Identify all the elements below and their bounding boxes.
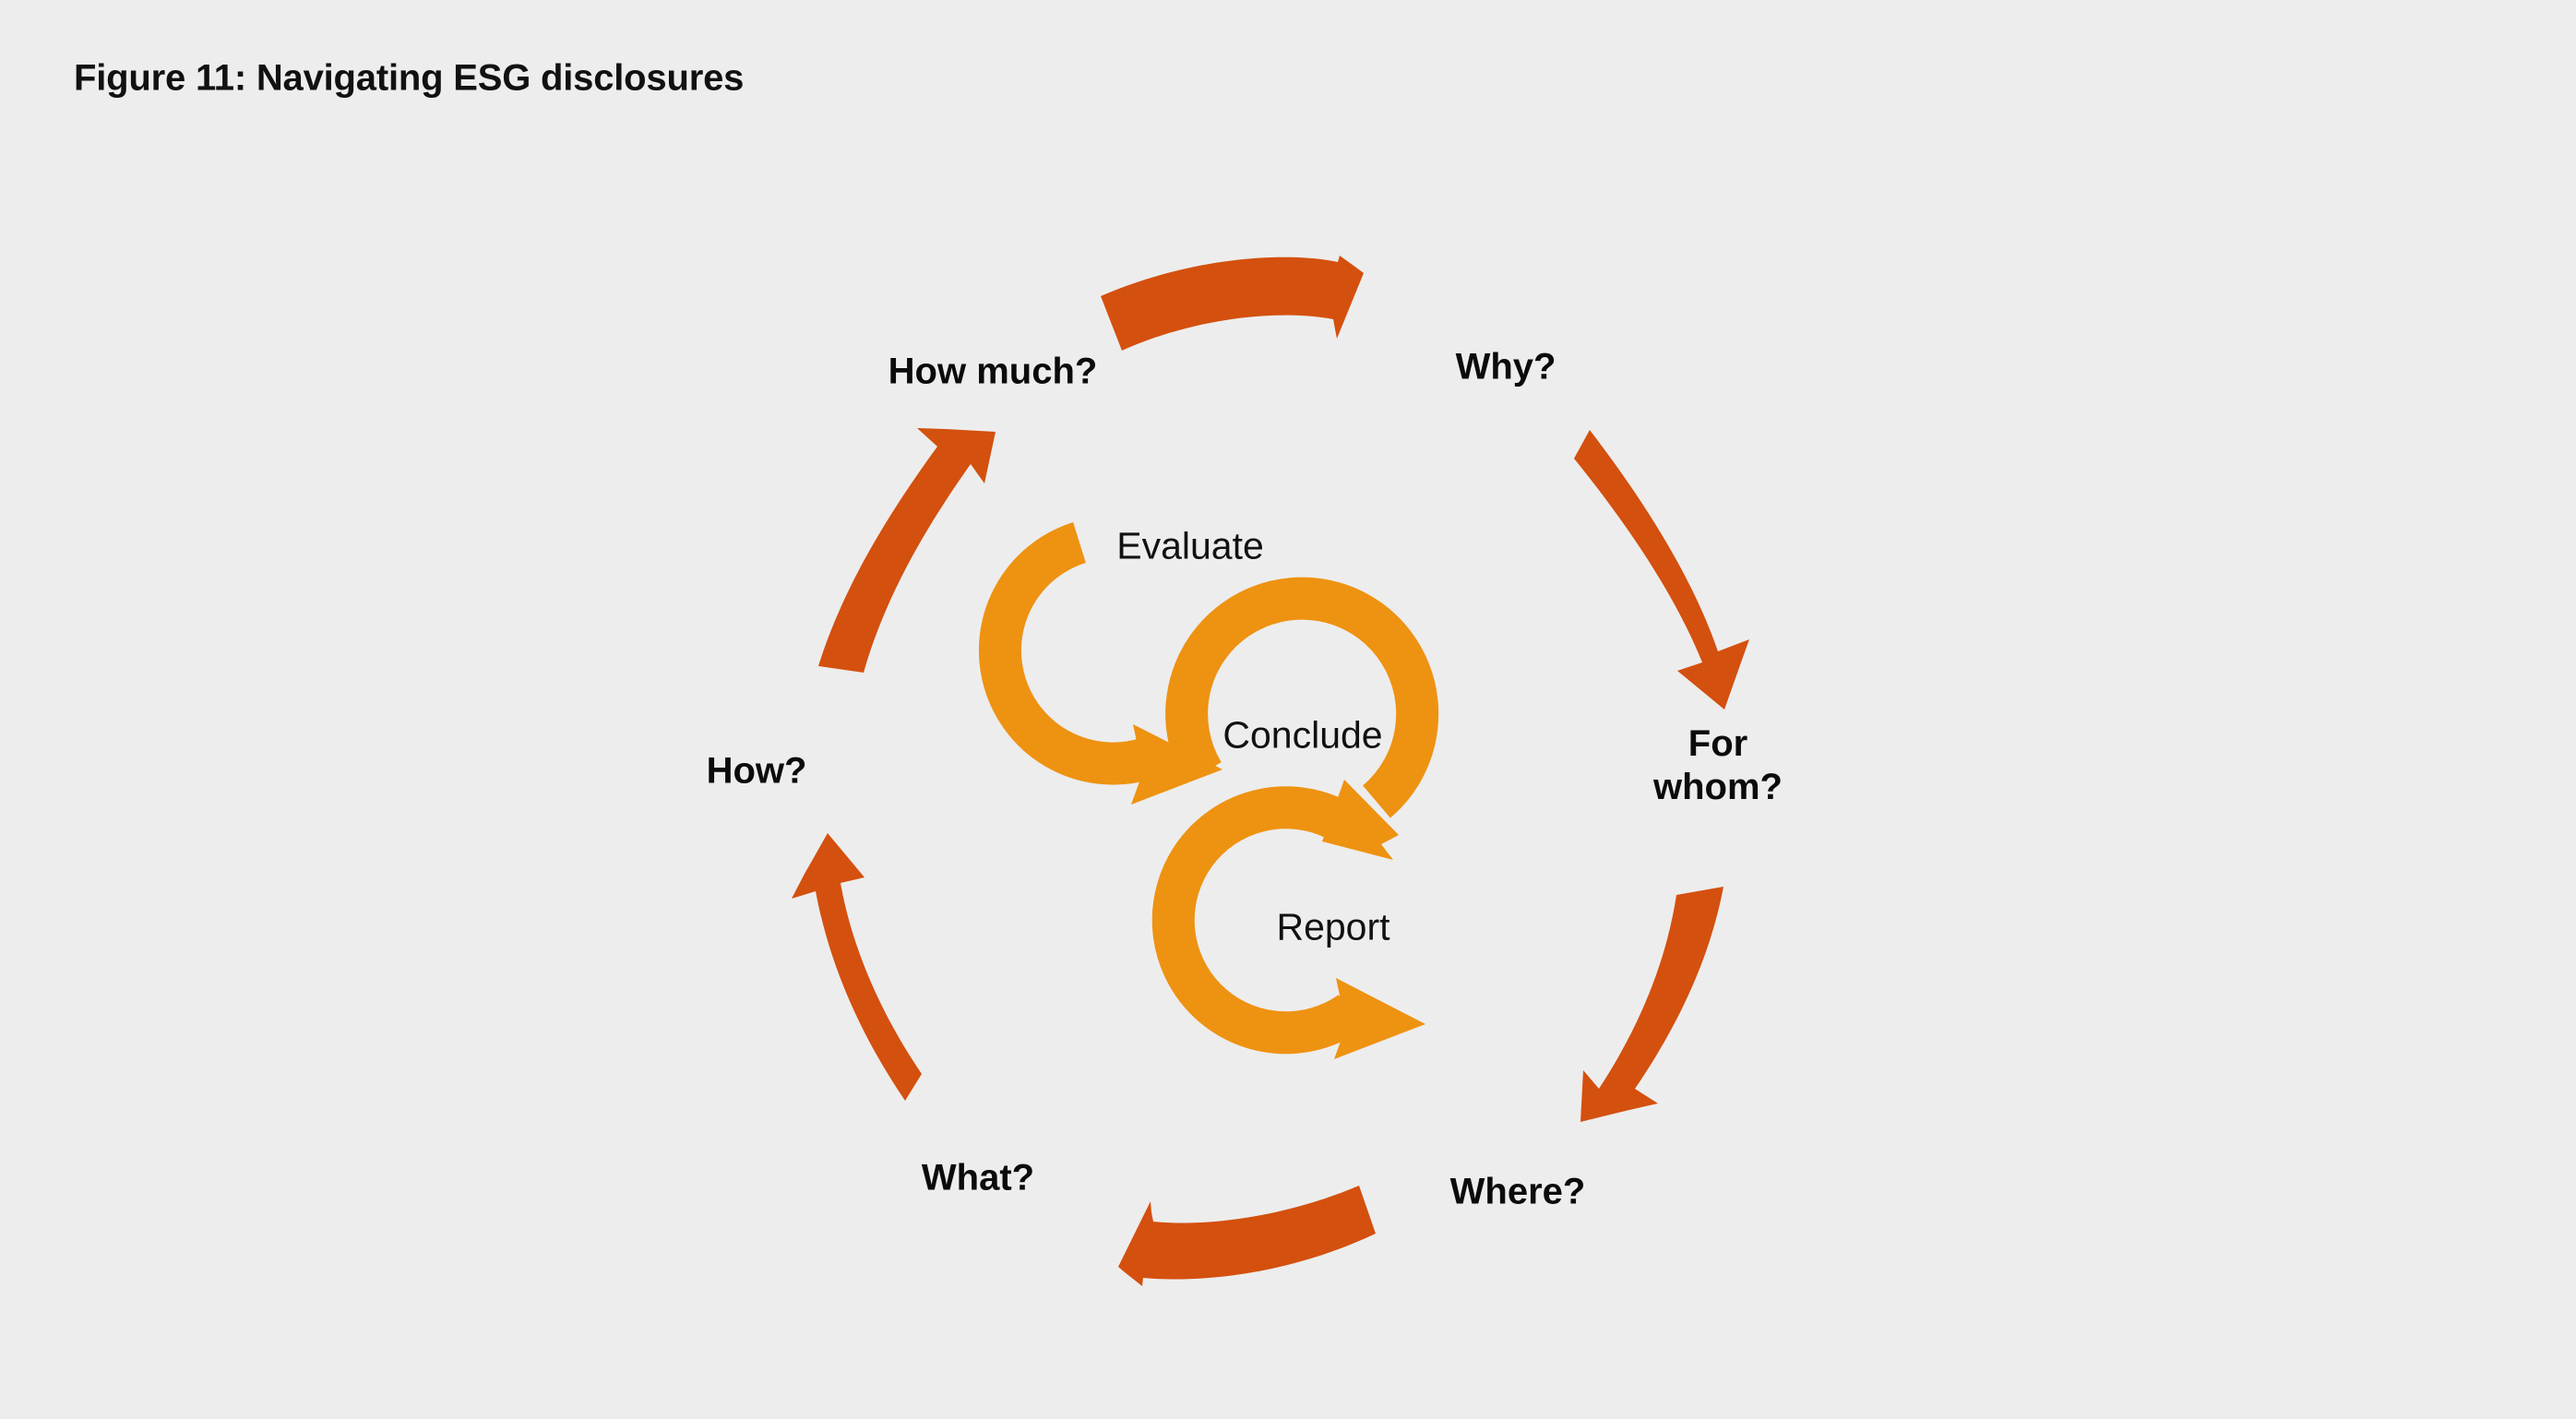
arrow-why-to-for-whom-icon [1574,430,1749,709]
figure-page: Figure 11: Navigating ESG disclosures [0,0,2576,1419]
cycle-diagram: Why? For whom? Where? What? How? How muc… [0,0,2576,1419]
outer-ring-arrows [792,256,1749,1286]
arrow-for-whom-to-where-icon [1580,887,1723,1122]
report-arrow-icon [1174,807,1425,1059]
inner-core-arrows [1000,543,1425,1059]
cycle-diagram-graphics [0,0,2576,1419]
arrow-where-to-what-icon [1118,1186,1376,1286]
arrow-what-to-how-icon [792,833,922,1101]
arrow-how-much-to-why-icon [1101,256,1364,351]
arrow-how-to-how-much-icon [818,428,996,673]
